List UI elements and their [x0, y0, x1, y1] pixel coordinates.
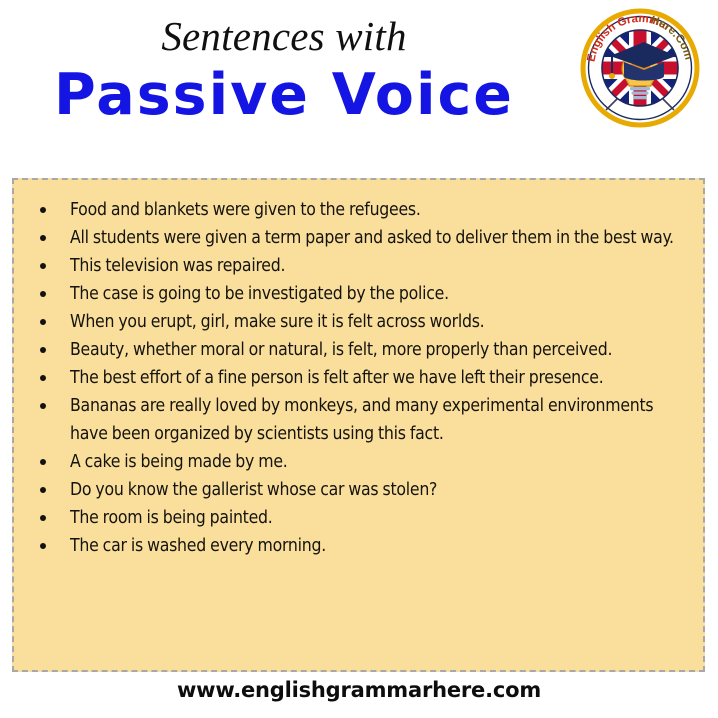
- footer-website[interactable]: www.englishgrammarhere.com: [0, 678, 718, 702]
- list-item: Food and blankets were given to the refu…: [14, 196, 697, 224]
- english-grammar-here-logo: English Grammar Here.Com: [578, 6, 702, 130]
- list-item: The room is being painted.: [14, 504, 697, 532]
- list-item: This television was repaired.: [14, 252, 697, 280]
- list-item: A cake is being made by me.: [14, 448, 697, 476]
- title-block: Sentences with Passive Voice: [0, 14, 568, 128]
- sentence-list: Food and blankets were given to the refu…: [14, 196, 697, 560]
- page-title-subtitle: Sentences with: [0, 14, 568, 58]
- list-item: The car is washed every morning.: [14, 532, 697, 560]
- list-item: Beauty, whether moral or natural, is fel…: [14, 336, 697, 364]
- list-item: Do you know the gallerist whose car was …: [14, 476, 697, 504]
- list-item: The case is going to be investigated by …: [14, 280, 697, 308]
- list-item: The best effort of a fine person is felt…: [14, 364, 697, 392]
- list-item: When you erupt, girl, make sure it is fe…: [14, 308, 697, 336]
- list-item: All students were given a term paper and…: [14, 224, 697, 252]
- page-title: Passive Voice: [0, 64, 568, 128]
- list-item: Bananas are really loved by monkeys, and…: [14, 392, 697, 448]
- page-header: Sentences with Passive Voice: [0, 0, 718, 170]
- sentences-content-box: Food and blankets were given to the refu…: [12, 178, 705, 672]
